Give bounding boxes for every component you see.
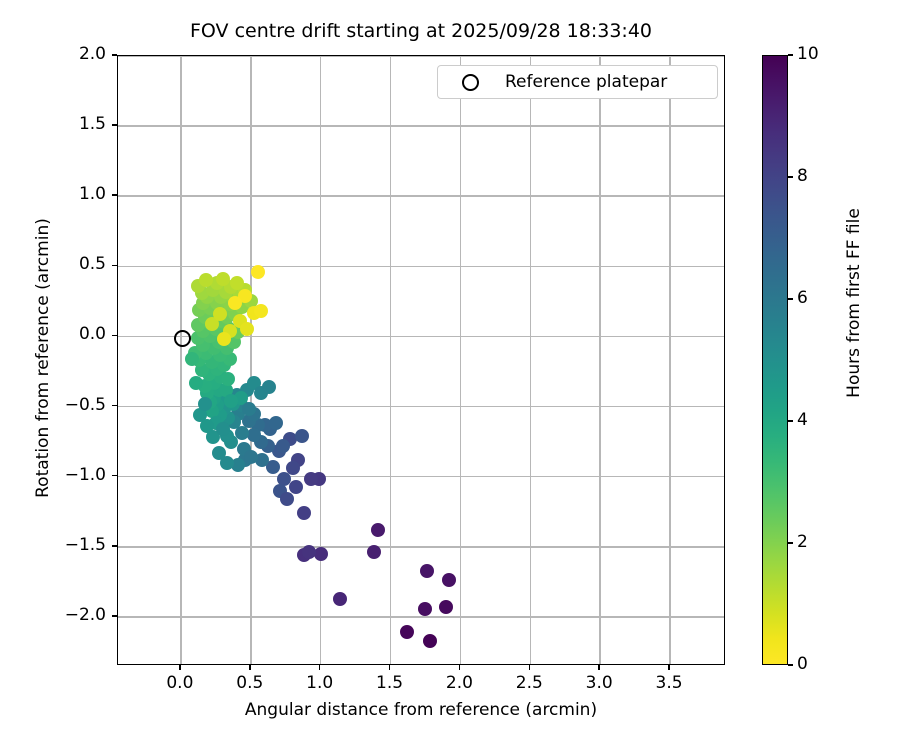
scatter-point [439, 600, 453, 614]
gridline-vertical-7 [669, 56, 671, 664]
scatter-point [333, 592, 347, 606]
scatter-point [289, 480, 303, 494]
colorbar-tick-label-2: 4 [797, 410, 808, 430]
y-tick-label-7: 1.5 [42, 114, 106, 134]
gridline-horizontal-6 [118, 195, 724, 197]
gridline-vertical-3 [390, 56, 392, 664]
scatter-point [240, 322, 254, 336]
scatter-point [185, 352, 199, 366]
y-tick-4 [112, 335, 117, 337]
y-axis-label: Rotation from reference (arcmin) [33, 53, 53, 663]
y-tick-0 [112, 615, 117, 617]
y-tick-7 [112, 124, 117, 126]
scatter-point [212, 446, 226, 460]
x-tick-6 [598, 665, 600, 670]
gridline-horizontal-2 [118, 476, 724, 478]
scatter-point [367, 545, 381, 559]
x-axis-label: Angular distance from reference (arcmin) [117, 700, 725, 720]
x-tick-label-7: 3.5 [639, 673, 699, 693]
colorbar-tick-1 [788, 542, 793, 544]
x-tick-label-5: 2.5 [499, 673, 559, 693]
scatter-point [276, 439, 290, 453]
scatter-point [216, 422, 230, 436]
colorbar-tick-label-4: 8 [797, 166, 808, 186]
y-tick-label-4: 0.0 [42, 324, 106, 344]
scatter-point [418, 602, 432, 616]
gridline-vertical-6 [599, 56, 601, 664]
reference-platepar-marker [174, 330, 191, 347]
colorbar-label: Hours from first FF file [844, 0, 864, 608]
plot-area[interactable] [117, 55, 725, 665]
scatter-point [442, 573, 456, 587]
page-title: FOV centre drift starting at 2025/09/28 … [117, 20, 725, 42]
gridline-horizontal-1 [118, 546, 724, 548]
gridline-vertical-1 [250, 56, 252, 664]
x-tick-label-3: 1.5 [360, 673, 420, 693]
colorbar-tick-0 [788, 664, 793, 666]
scatter-point [189, 376, 203, 390]
x-tick-0 [179, 665, 181, 670]
scatter-point [262, 380, 276, 394]
scatter-point [213, 307, 227, 321]
x-tick-label-4: 2.0 [429, 673, 489, 693]
scatter-point [280, 492, 294, 506]
gridline-vertical-0 [180, 56, 182, 664]
scatter-point [269, 416, 283, 430]
scatter-point [251, 265, 265, 279]
scatter-point [230, 276, 244, 290]
x-tick-5 [529, 665, 531, 670]
y-tick-label-6: 1.0 [42, 184, 106, 204]
figure-canvas: FOV centre drift starting at 2025/09/28 … [0, 0, 900, 750]
scatter-point [221, 372, 235, 386]
y-tick-label-2: −1.0 [42, 465, 106, 485]
x-tick-7 [668, 665, 670, 670]
y-tick-2 [112, 475, 117, 477]
scatter-point [198, 397, 212, 411]
scatter-point [400, 625, 414, 639]
y-tick-label-8: 2.0 [42, 44, 106, 64]
x-tick-3 [389, 665, 391, 670]
scatter-point [423, 634, 437, 648]
colorbar-tick-label-1: 2 [797, 532, 808, 552]
x-tick-4 [459, 665, 461, 670]
scatter-point [295, 429, 309, 443]
y-tick-label-3: −0.5 [42, 395, 106, 415]
scatter-point [420, 564, 434, 578]
scatter-point [216, 272, 230, 286]
x-tick-2 [319, 665, 321, 670]
colorbar-tick-2 [788, 420, 793, 422]
colorbar-tick-5 [788, 54, 793, 56]
gridline-horizontal-8 [118, 55, 724, 57]
colorbar-tick-3 [788, 298, 793, 300]
gridline-vertical-4 [460, 56, 462, 664]
colorbar-tick-4 [788, 176, 793, 178]
gridline-vertical-2 [320, 56, 322, 664]
y-tick-label-0: −2.0 [42, 605, 106, 625]
x-tick-1 [249, 665, 251, 670]
colorbar[interactable]: 0246810 [762, 55, 788, 665]
gridline-horizontal-5 [118, 266, 724, 268]
gridline-horizontal-7 [118, 125, 724, 127]
scatter-point [254, 304, 268, 318]
legend-label-reference-platepar: Reference platepar [505, 72, 667, 92]
y-tick-6 [112, 194, 117, 196]
legend[interactable]: Reference platepar [437, 65, 718, 99]
y-tick-5 [112, 265, 117, 267]
scatter-point [297, 506, 311, 520]
y-tick-1 [112, 545, 117, 547]
colorbar-tick-label-3: 6 [797, 288, 808, 308]
x-tick-label-2: 1.0 [290, 673, 350, 693]
legend-marker-reference-platepar [462, 74, 479, 91]
y-tick-label-1: −1.5 [42, 535, 106, 555]
scatter-point [371, 523, 385, 537]
x-tick-label-6: 3.0 [569, 673, 629, 693]
scatter-point [244, 450, 258, 464]
y-tick-3 [112, 405, 117, 407]
y-tick-label-5: 0.5 [42, 254, 106, 274]
x-tick-label-1: 0.5 [220, 673, 280, 693]
colorbar-tick-label-0: 0 [797, 654, 808, 674]
gridline-vertical-5 [530, 56, 532, 664]
x-tick-label-0: 0.0 [150, 673, 210, 693]
colorbar-tick-label-5: 10 [797, 44, 819, 64]
colorbar-gradient [762, 55, 788, 665]
y-tick-8 [112, 54, 117, 56]
gridline-horizontal-0 [118, 616, 724, 618]
